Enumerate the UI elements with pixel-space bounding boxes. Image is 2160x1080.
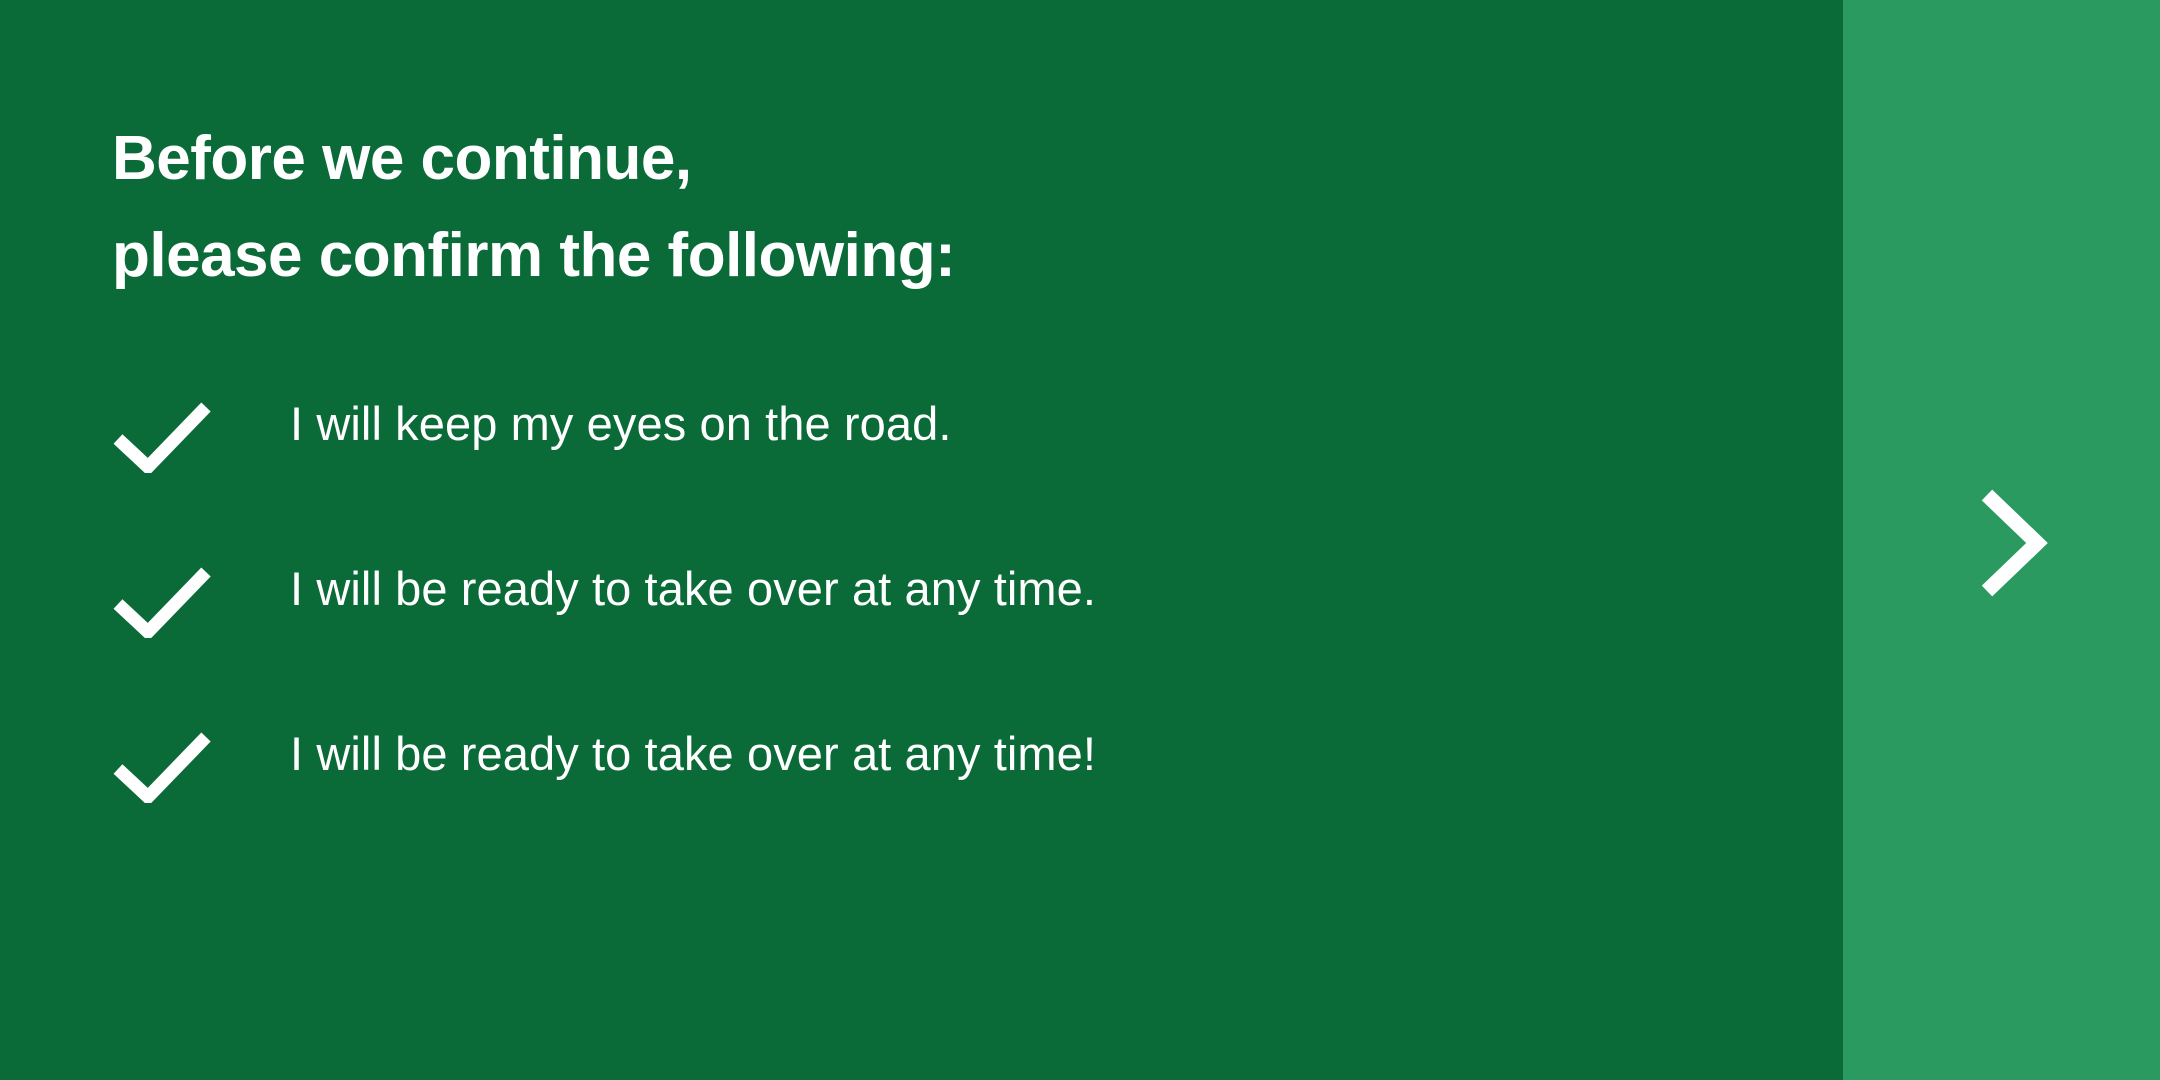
checklist-item-label: I will be ready to take over at any time… <box>290 554 1096 624</box>
page-title: Before we continue, please confirm the f… <box>112 110 955 304</box>
confirmation-screen: Before we continue, please confirm the f… <box>0 0 2160 1080</box>
main-panel: Before we continue, please confirm the f… <box>0 0 1843 1080</box>
check-icon <box>112 395 290 475</box>
next-button[interactable] <box>1933 440 2093 645</box>
checklist-item-label: I will be ready to take over at any time… <box>290 719 1096 789</box>
page-title-line-2: please confirm the following: <box>112 207 955 304</box>
checklist-item-label: I will keep my eyes on the road. <box>290 389 952 459</box>
check-icon <box>112 560 290 640</box>
check-icon <box>112 725 290 805</box>
chevron-right-icon <box>1977 487 2049 599</box>
confirmation-checklist: I will keep my eyes on the road. I will … <box>112 395 1712 890</box>
checklist-item-1[interactable]: I will keep my eyes on the road. <box>112 395 1712 560</box>
page-title-line-1: Before we continue, <box>112 110 955 207</box>
checklist-item-2[interactable]: I will be ready to take over at any time… <box>112 560 1712 725</box>
checklist-item-3[interactable]: I will be ready to take over at any time… <box>112 725 1712 890</box>
next-panel <box>1843 0 2160 1080</box>
